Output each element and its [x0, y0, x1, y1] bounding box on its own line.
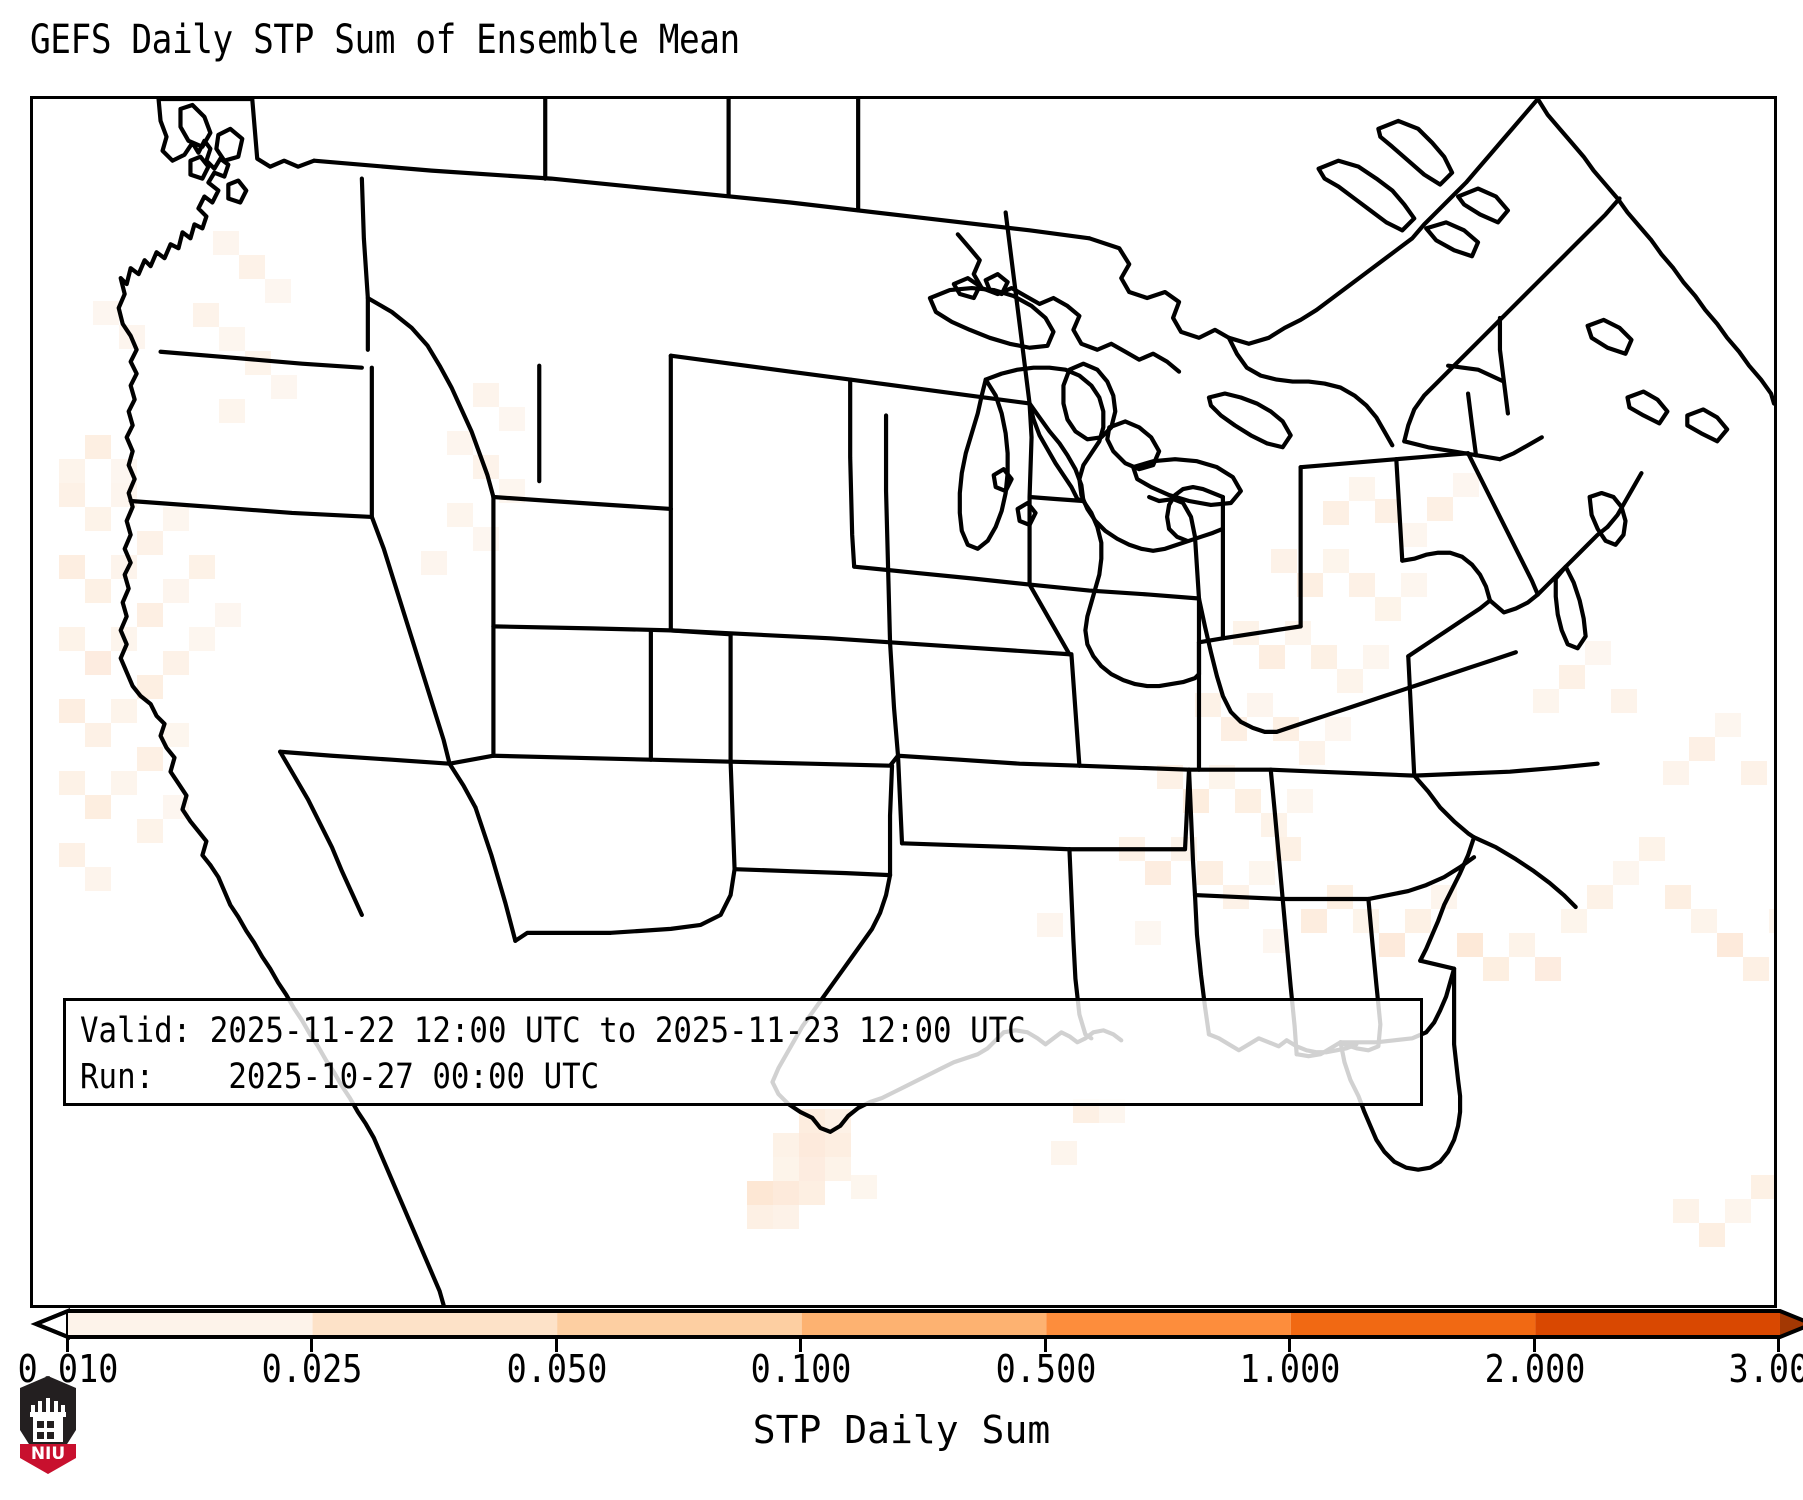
colorbar-band-4: [1046, 1311, 1291, 1337]
colorbar-ticklabel: 0.050: [507, 1348, 608, 1390]
colorbar-band-1: [313, 1311, 558, 1337]
colorbar-axis-label: STP Daily Sum: [0, 1408, 1803, 1452]
colorbar-ticklabel: 0.100: [751, 1348, 852, 1390]
colorbar-ticklabel: 3.000: [1729, 1348, 1803, 1390]
colorbar-ticklabel: 2.000: [1485, 1348, 1586, 1390]
niu-logo: NIU: [16, 1374, 80, 1476]
map-geography: [33, 99, 1774, 1305]
colorbar-band-0: [68, 1311, 313, 1337]
colorbar-band-3: [802, 1311, 1047, 1337]
page-title: GEFS Daily STP Sum of Ensemble Mean: [30, 16, 740, 64]
map-axes[interactable]: Valid: 2025-11-22 12:00 UTC to 2025-11-2…: [30, 96, 1777, 1308]
colorbar-ticklabel: 1.000: [1240, 1348, 1341, 1390]
colorbar-band-5: [1291, 1311, 1536, 1337]
valid-time-line: Valid: 2025-11-22 12:00 UTC to 2025-11-2…: [80, 1008, 1247, 1054]
colorbar-swatches[interactable]: [34, 1309, 1803, 1339]
colorbar-band-6: [1535, 1311, 1780, 1337]
run-time-line: Run: 2025-10-27 00:00 UTC: [80, 1054, 1247, 1100]
colorbar-ticklabel: 0.025: [262, 1348, 363, 1390]
forecast-info-box: Valid: 2025-11-22 12:00 UTC to 2025-11-2…: [63, 998, 1423, 1106]
niu-banner-text: NIU: [31, 1444, 65, 1464]
colorbar[interactable]: [68, 1311, 1780, 1337]
colorbar-band-2: [557, 1311, 802, 1337]
colorbar-ticklabel: 0.500: [996, 1348, 1097, 1390]
